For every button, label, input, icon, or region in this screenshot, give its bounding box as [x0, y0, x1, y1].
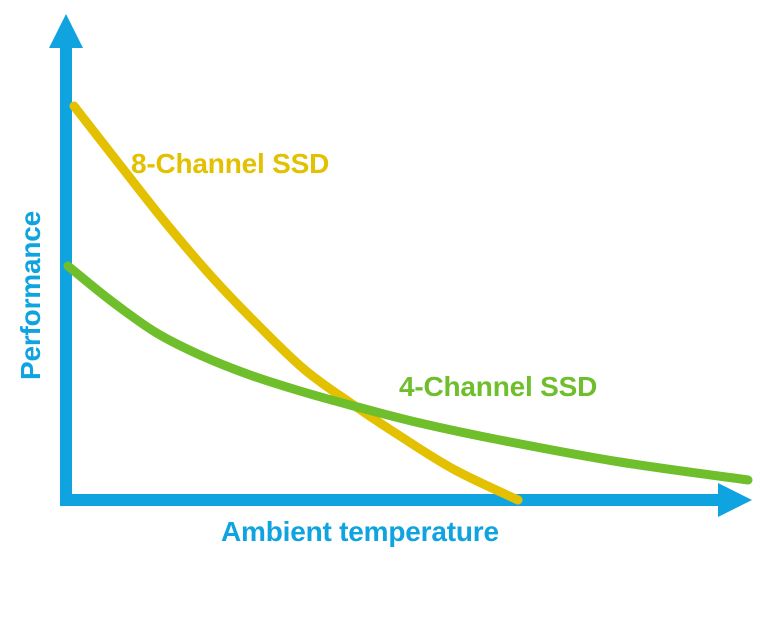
- chart-container: Performance Ambient temperature 8-Channe…: [0, 0, 778, 623]
- x-axis-line: [60, 494, 722, 506]
- x-axis-label: Ambient temperature: [221, 516, 499, 547]
- y-axis-arrow-icon: [49, 14, 83, 48]
- labels-group: Performance Ambient temperature 8-Channe…: [15, 148, 597, 547]
- series-label-8-channel-ssd: 8-Channel SSD: [131, 148, 329, 179]
- y-axis-label: Performance: [15, 211, 46, 380]
- x-axis-arrow-icon: [718, 483, 752, 517]
- performance-vs-temperature-chart: Performance Ambient temperature 8-Channe…: [0, 0, 778, 623]
- series-label-4-channel-ssd: 4-Channel SSD: [399, 371, 597, 402]
